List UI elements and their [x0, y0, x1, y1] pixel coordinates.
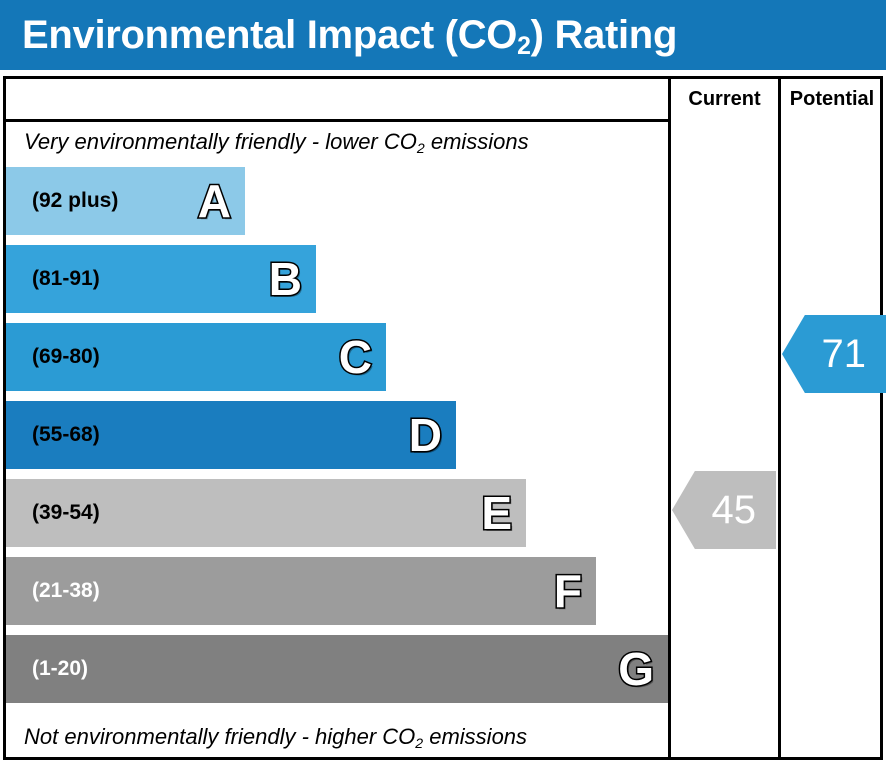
- column-divider-potential: [778, 79, 781, 757]
- column-header-current: Current: [671, 79, 778, 119]
- band-row-d: (55-68)D: [6, 401, 456, 469]
- band-letter-b: B: [269, 256, 302, 302]
- title-subscript: 2: [517, 33, 531, 60]
- caption-top-subscript: 2: [417, 140, 425, 156]
- band-range-f: (21-38): [32, 579, 100, 603]
- rating-arrow-potential: 71: [782, 315, 886, 393]
- column-divider-current: [668, 79, 671, 757]
- page-title: Environmental Impact (CO2) Rating: [22, 15, 677, 55]
- band-row-b: (81-91)B: [6, 245, 316, 313]
- band-letter-f: F: [554, 568, 582, 614]
- band-row-c: (69-80)C: [6, 323, 386, 391]
- band-letter-e: E: [481, 490, 512, 536]
- band-letter-a: A: [198, 178, 231, 224]
- caption-top-suffix: emissions: [425, 129, 529, 154]
- title-prefix: Environmental Impact (CO: [22, 13, 517, 57]
- band-row-f: (21-38)F: [6, 557, 596, 625]
- caption-top-prefix: Very environmentally friendly - lower CO: [24, 129, 417, 154]
- band-range-e: (39-54): [32, 501, 100, 525]
- band-range-b: (81-91): [32, 267, 100, 291]
- band-row-g: (1-20)G: [6, 635, 668, 703]
- band-range-g: (1-20): [32, 657, 88, 681]
- band-range-a: (92 plus): [32, 189, 118, 213]
- caption-bottom-prefix: Not environmentally friendly - higher CO: [24, 724, 415, 749]
- band-list: (92 plus)A(81-91)B(69-80)C(55-68)D(39-54…: [6, 167, 668, 717]
- caption-top: Very environmentally friendly - lower CO…: [6, 122, 668, 162]
- band-range-d: (55-68): [32, 423, 100, 447]
- chart-title-bar: Environmental Impact (CO2) Rating: [0, 0, 886, 70]
- rating-table: Current Potential Very environmentally f…: [3, 76, 883, 760]
- band-letter-g: G: [618, 646, 654, 692]
- epc-co2-rating-chart: Environmental Impact (CO2) Rating Curren…: [0, 0, 886, 764]
- band-row-e: (39-54)E: [6, 479, 526, 547]
- caption-bottom-subscript: 2: [415, 735, 423, 751]
- column-header-potential: Potential: [781, 79, 883, 119]
- caption-bottom: Not environmentally friendly - higher CO…: [6, 717, 668, 757]
- band-letter-d: D: [409, 412, 442, 458]
- title-suffix: ) Rating: [531, 13, 677, 57]
- band-row-a: (92 plus)A: [6, 167, 245, 235]
- caption-bottom-suffix: emissions: [423, 724, 527, 749]
- rating-value-potential: 71: [822, 334, 867, 374]
- band-range-c: (69-80): [32, 345, 100, 369]
- rating-arrow-current: 45: [672, 471, 776, 549]
- rating-value-current: 45: [712, 490, 757, 530]
- band-letter-c: C: [339, 334, 372, 380]
